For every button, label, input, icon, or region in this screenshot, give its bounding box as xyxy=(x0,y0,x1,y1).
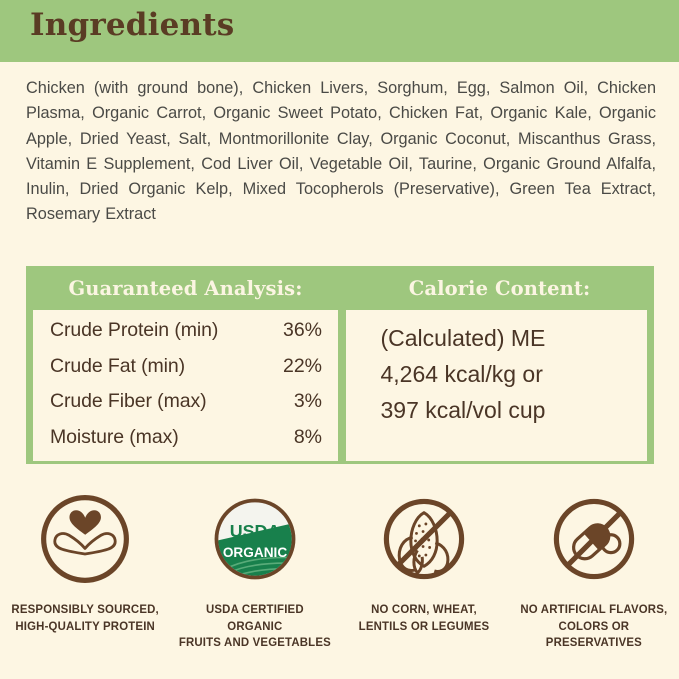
badge-caption-line2: HIGH-QUALITY PROTEIN xyxy=(15,619,155,633)
row-label: Crude Protein (min) xyxy=(50,319,218,342)
badge-caption-line1: NO ARTIFICIAL FLAVORS, xyxy=(521,602,668,616)
table-row: Crude Fiber (max) 3% xyxy=(50,390,322,426)
row-value: 22% xyxy=(283,355,322,378)
heart-in-hand-icon xyxy=(38,492,132,586)
seal-top-text: USDA xyxy=(229,521,280,541)
calorie-line: 397 kcal/vol cup xyxy=(381,392,613,428)
table-row: Moisture (max) 8% xyxy=(50,426,322,462)
analysis-panel: Guaranteed Analysis: Calorie Content: Cr… xyxy=(26,266,654,464)
badge-caption-line2: FRUITS AND VEGETABLES xyxy=(179,635,331,649)
badge-caption-line1: RESPONSIBLY SOURCED, xyxy=(11,602,158,616)
ingredients-text: Chicken (with ground bone), Chicken Live… xyxy=(26,76,656,228)
badge-caption-line1: NO CORN, WHEAT, xyxy=(371,602,477,616)
badge-caption-line2: LENTILS OR LEGUMES xyxy=(359,619,490,633)
badge-caption-line2: COLORS OR PRESERVATIVES xyxy=(546,619,642,650)
panel-body: Crude Protein (min) 36% Crude Fat (min) … xyxy=(26,310,654,468)
usda-organic-seal-icon: USDA ORGANIC xyxy=(208,492,302,586)
table-row: Crude Protein (min) 36% xyxy=(50,319,322,355)
badge-caption: NO ARTIFICIAL FLAVORS, COLORS OR PRESERV… xyxy=(516,601,672,651)
calorie-line: 4,264 kcal/kg or xyxy=(381,356,613,392)
badge-usda-organic: USDA ORGANIC USDA CERTIFIED ORGANIC FRUI… xyxy=(170,492,340,651)
header-bar: Ingredients xyxy=(0,0,679,62)
badge-row: RESPONSIBLY SOURCED, HIGH-QUALITY PROTEI… xyxy=(0,492,679,651)
row-value: 36% xyxy=(283,319,322,342)
no-corn-icon xyxy=(377,492,471,586)
badge-no-artificial: NO ARTIFICIAL FLAVORS, COLORS OR PRESERV… xyxy=(509,492,679,651)
row-value: 3% xyxy=(294,390,322,413)
badge-no-corn: NO CORN, WHEAT, LENTILS OR LEGUMES xyxy=(340,492,510,651)
badge-responsibly-sourced: RESPONSIBLY SOURCED, HIGH-QUALITY PROTEI… xyxy=(0,492,170,651)
guaranteed-analysis-heading: Guaranteed Analysis: xyxy=(26,266,345,310)
calorie-content-values: (Calculated) ME 4,264 kcal/kg or 397 kca… xyxy=(346,310,647,461)
row-label: Crude Fat (min) xyxy=(50,355,185,378)
calorie-line: (Calculated) ME xyxy=(381,320,613,356)
no-artificial-additives-icon xyxy=(547,492,641,586)
badge-caption-line1: USDA CERTIFIED ORGANIC xyxy=(206,602,304,633)
seal-bottom-text: ORGANIC xyxy=(222,545,287,560)
table-row: Crude Fat (min) 22% xyxy=(50,355,322,391)
product-info-panel: Ingredients Chicken (with ground bone), … xyxy=(0,0,679,679)
badge-caption: RESPONSIBLY SOURCED, HIGH-QUALITY PROTEI… xyxy=(11,601,158,634)
badge-caption: NO CORN, WHEAT, LENTILS OR LEGUMES xyxy=(359,601,490,634)
guaranteed-analysis-table: Crude Protein (min) 36% Crude Fat (min) … xyxy=(33,310,338,461)
row-label: Moisture (max) xyxy=(50,426,179,449)
page-title: Ingredients xyxy=(30,7,234,43)
calorie-content-heading: Calorie Content: xyxy=(345,266,654,310)
row-label: Crude Fiber (max) xyxy=(50,390,207,413)
row-value: 8% xyxy=(294,426,322,449)
badge-caption: USDA CERTIFIED ORGANIC FRUITS AND VEGETA… xyxy=(177,601,333,651)
panel-headings-row: Guaranteed Analysis: Calorie Content: xyxy=(26,266,654,310)
